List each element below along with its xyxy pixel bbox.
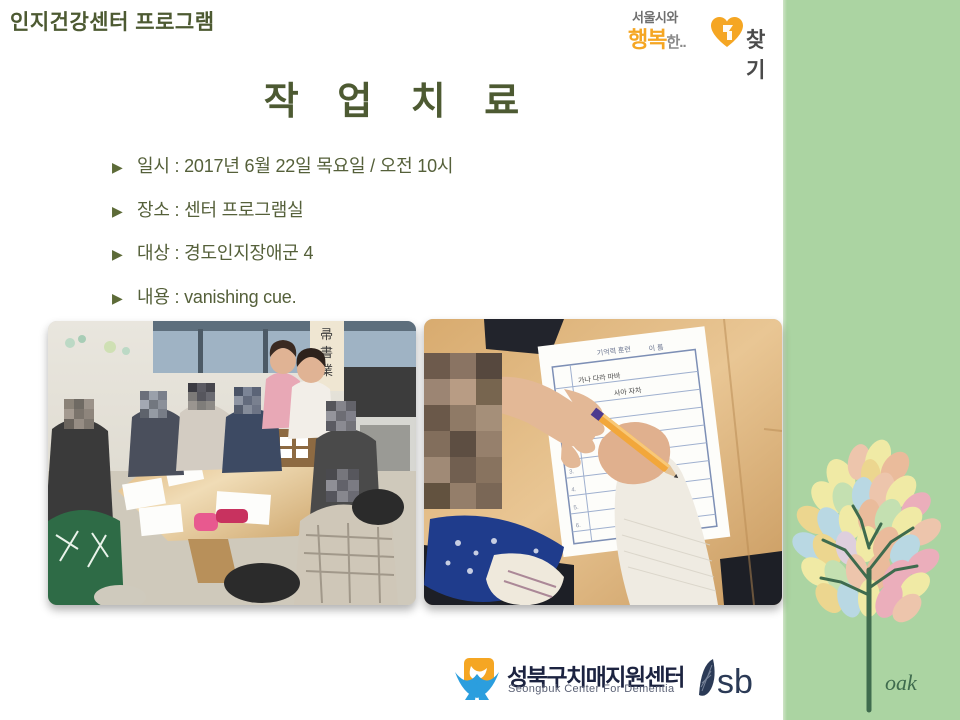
program-details-list: ▶ 일시 : 2017년 6월 22일 목요일 / 오전 10시 ▶ 장소 : …: [112, 155, 752, 329]
tree-signature: oak: [885, 670, 918, 695]
list-item-label: 장소 : 센터 프로그램실: [137, 199, 303, 222]
header-title: 인지건강센터 프로그램: [10, 10, 215, 35]
list-item-label: 대상 : 경도인지장애군 4: [137, 242, 313, 265]
group-therapy-session-photo: 帚 書 業: [48, 321, 416, 605]
list-item-label: 일시 : 2017년 6월 22일 목요일 / 오전 10시: [137, 155, 453, 178]
toplogo-han: 한: [666, 34, 679, 51]
bullet-triangle-icon: ▶: [112, 291, 128, 305]
bullet-triangle-icon: ▶: [112, 247, 128, 261]
bullet-triangle-icon: ▶: [112, 204, 128, 218]
list-item: ▶ 일시 : 2017년 6월 22일 목요일 / 오전 10시: [112, 155, 752, 178]
list-item: ▶ 내용 : vanishing cue.: [112, 286, 752, 309]
center-logo-english-name: Seongbuk Center For Dementia: [508, 683, 675, 695]
seongbuk-dementia-center-logo: 성북구치매지원센터 Seongbuk Center For Dementia s…: [455, 655, 765, 707]
toplogo-haengbok: 행복: [628, 27, 666, 52]
seoul-happiness-logo: 서울시와 행복한.. 찾기: [628, 6, 780, 54]
bullet-triangle-icon: ▶: [112, 160, 128, 174]
right-green-panel: oak: [783, 0, 960, 720]
center-logo-mark-icon: [455, 658, 499, 700]
watercolor-tree-artwork: oak: [783, 420, 960, 720]
toplogo-line2: 행복한..: [628, 22, 686, 54]
list-item-label: 내용 : vanishing cue.: [137, 286, 296, 309]
list-item: ▶ 대상 : 경도인지장애군 4: [112, 242, 752, 265]
toplogo-dots: ..: [679, 34, 685, 51]
heart-icon: [710, 16, 744, 48]
svg-text:帚: 帚: [320, 328, 333, 343]
page-title: 작 업 치 료: [0, 70, 783, 125]
sb-submark-icon: sb: [695, 657, 767, 701]
slide-canvas: oak 인지건강센터 프로그램 서울시와 행복한.. 찾기 작 업 치 료 ▶ …: [0, 0, 960, 720]
writing-worksheet-photo: 기억력 훈련 이 름 가나 다라 마바 사아 자차 1.2.3. 4.5.6.: [424, 319, 782, 605]
list-item: ▶ 장소 : 센터 프로그램실: [112, 199, 752, 222]
sb-submark-label: sb: [717, 663, 753, 701]
